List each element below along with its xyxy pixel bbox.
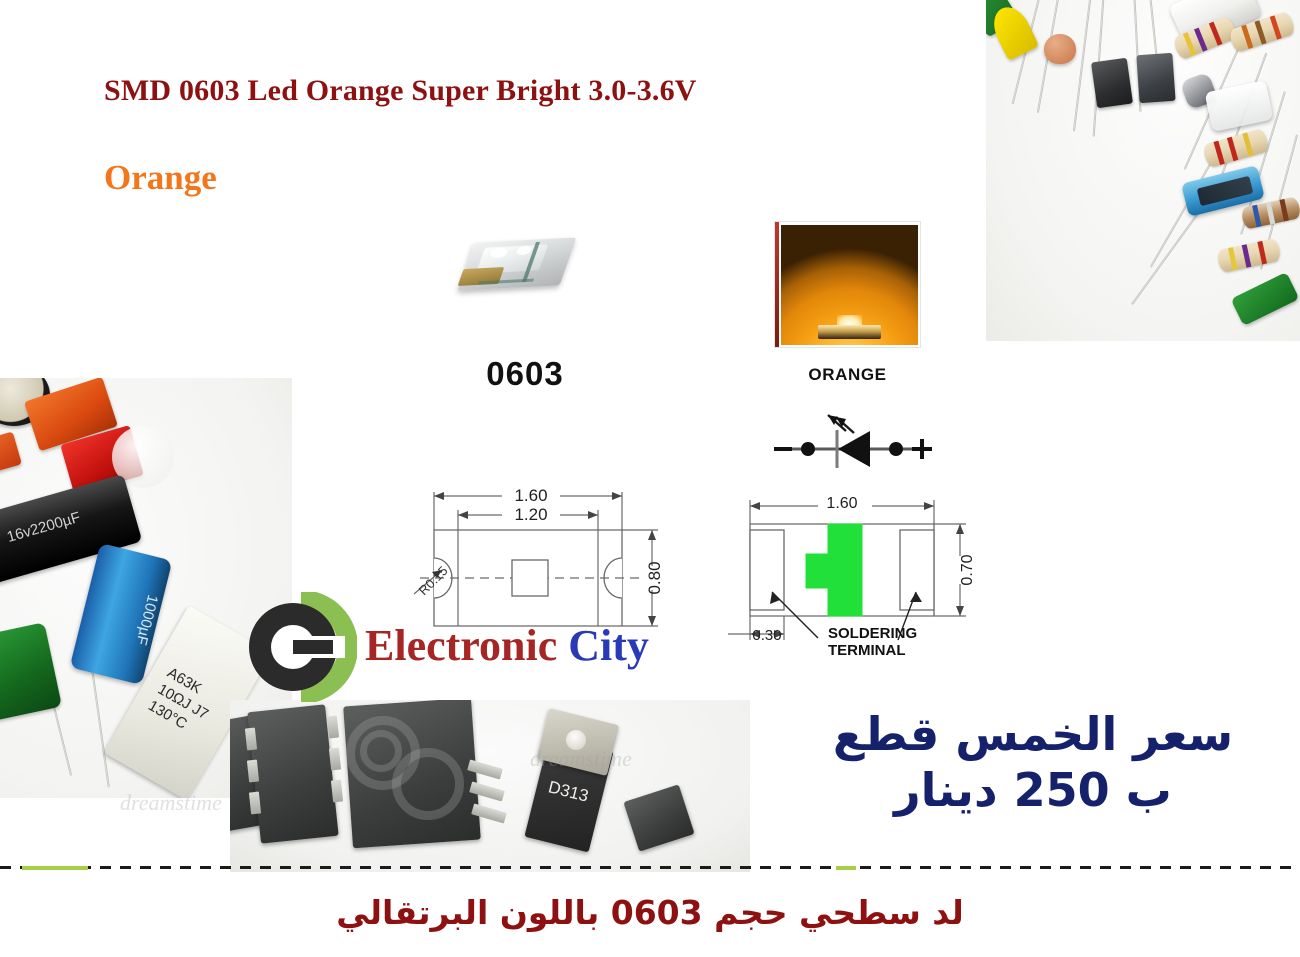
soldering-label-line2: TERMINAL bbox=[828, 642, 906, 659]
stock-watermark-text: dreamstime bbox=[120, 790, 222, 816]
electronic-city-logo: Electronic City bbox=[245, 592, 735, 702]
led-polarity-schematic bbox=[762, 405, 942, 475]
led-color-label: ORANGE bbox=[775, 365, 920, 385]
price-note: سعر الخمس قطع ب 250 دينار bbox=[818, 706, 1248, 818]
dashed-separator bbox=[0, 866, 1300, 869]
pad-height-label: 0.70 bbox=[959, 554, 976, 585]
logo-text: Electronic City bbox=[365, 620, 649, 671]
logo-mark-icon bbox=[245, 592, 357, 702]
orange-led-glow-image bbox=[775, 222, 920, 347]
product-image-canvas: 16v2200µF 1000µF A63K10ΩJ J7130°C D313 d… bbox=[0, 0, 1300, 957]
height-label: 0.80 bbox=[645, 561, 664, 594]
separator-green-mark-right bbox=[836, 866, 856, 870]
bottom-caption: لد سطحي حجم 0603 باللون البرتقالي bbox=[0, 893, 1300, 932]
terminal-width-label: 0.30 bbox=[752, 627, 781, 644]
page-title: SMD 0603 Led Orange Super Bright 3.0-3.6… bbox=[104, 74, 697, 108]
soldering-label-line1: SOLDERING bbox=[828, 625, 917, 642]
logo-word-electronic: Electronic bbox=[365, 621, 557, 670]
separator-green-mark-left bbox=[22, 866, 88, 870]
smd-led-component-image bbox=[455, 228, 580, 308]
logo-word-city: City bbox=[568, 621, 649, 670]
inner-width-label: 1.20 bbox=[514, 505, 547, 524]
pad-overall-width-label: 1.60 bbox=[826, 495, 857, 512]
color-subtitle: Orange bbox=[104, 158, 217, 198]
stock-watermark-ring bbox=[392, 748, 464, 820]
price-line-2: ب 250 دينار bbox=[818, 762, 1248, 818]
overall-width-label: 1.60 bbox=[514, 486, 547, 505]
bottom-ic-photo: D313 dreamstime bbox=[230, 700, 750, 872]
top-right-components-photo bbox=[986, 0, 1300, 341]
dimension-drawing-pad-view: 1.60 0.70 0.30 SOLDERING TERMINAL bbox=[728, 478, 980, 660]
price-line-1: سعر الخمس قطع bbox=[833, 707, 1233, 761]
package-size-label: 0603 bbox=[455, 355, 595, 393]
